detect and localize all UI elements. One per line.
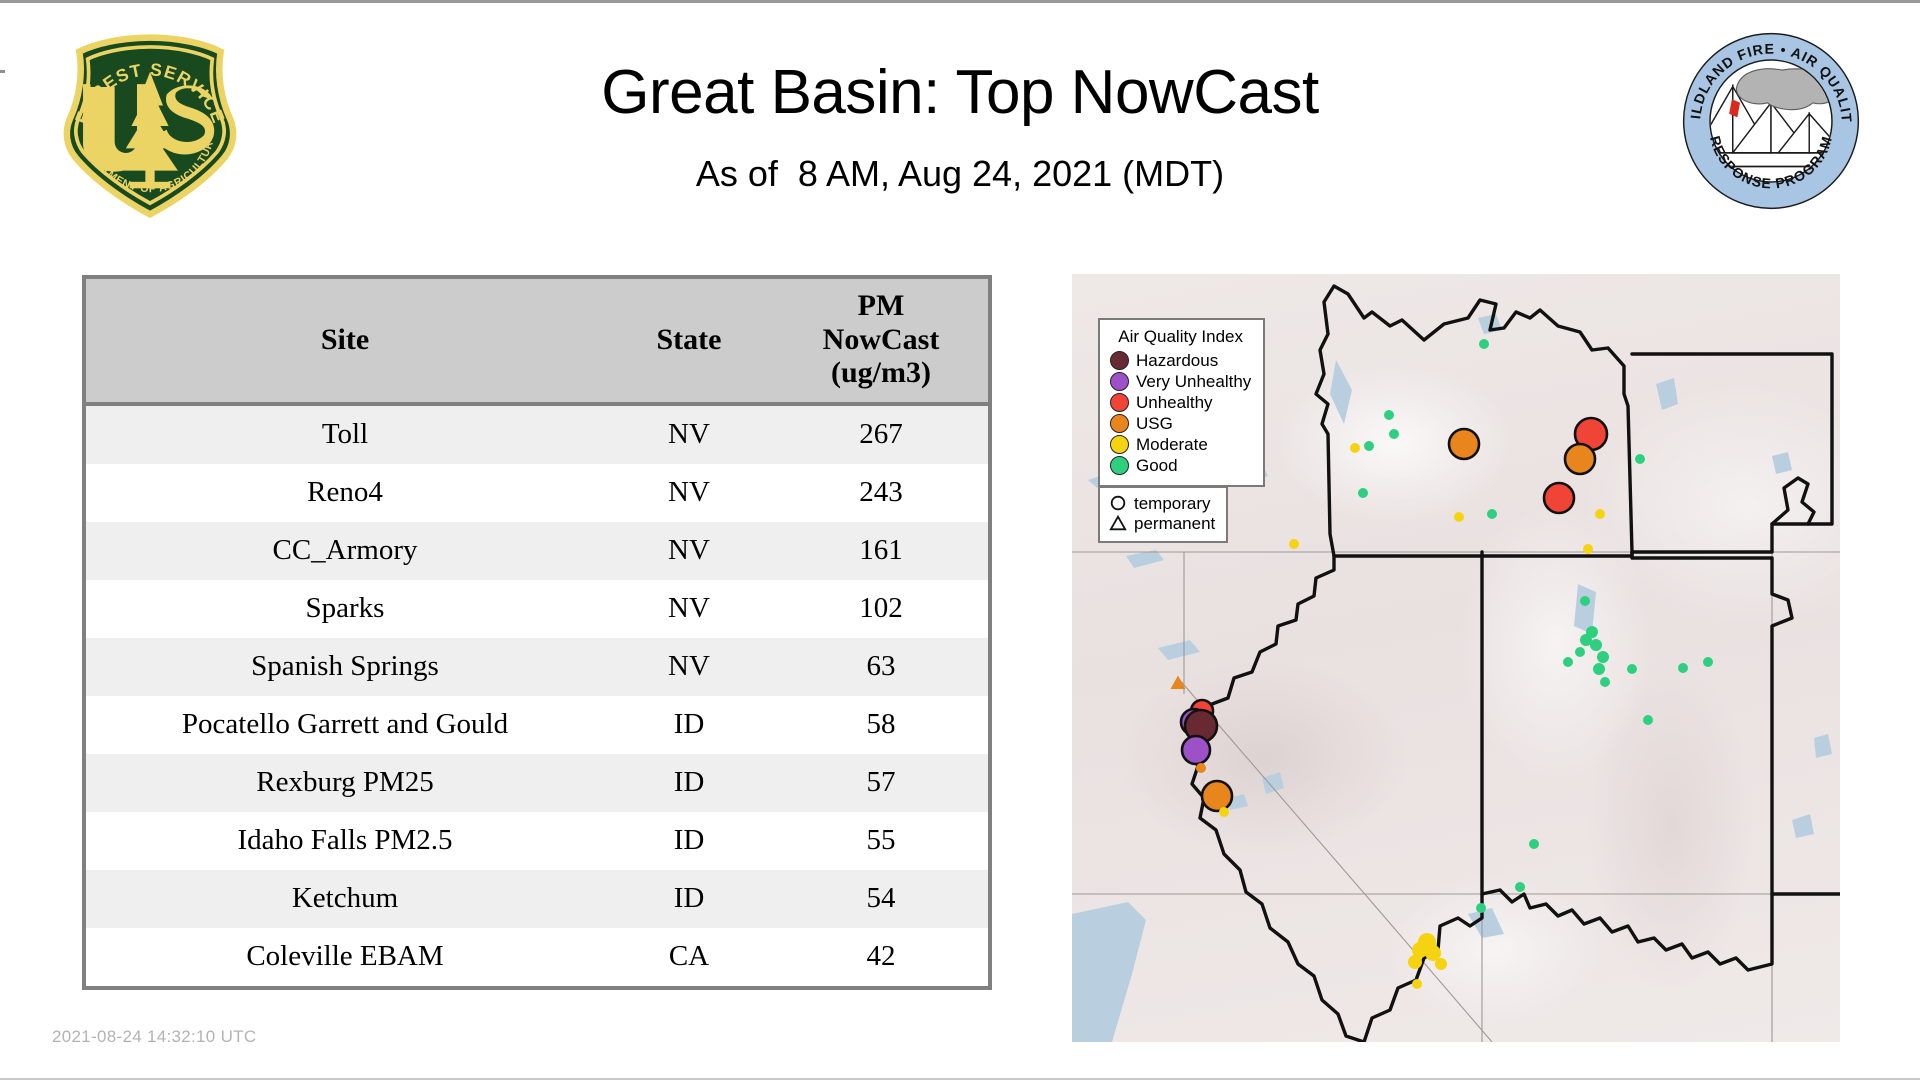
cell-pm-nowcast: 42: [774, 928, 990, 988]
column-header-state: State: [604, 277, 774, 404]
aqi-swatch-icon: [1110, 414, 1129, 433]
monitor-point[interactable]: [1575, 647, 1585, 657]
monitor-point[interactable]: [1580, 596, 1590, 606]
cell-state: ID: [604, 754, 774, 812]
table-row: SparksNV102: [84, 580, 990, 638]
cell-pm-nowcast: 54: [774, 870, 990, 928]
cell-state: ID: [604, 870, 774, 928]
monitor-point[interactable]: [1435, 958, 1447, 970]
monitor-point[interactable]: [1595, 509, 1605, 519]
cell-pm-nowcast: 55: [774, 812, 990, 870]
aqi-legend-label: Hazardous: [1136, 352, 1218, 369]
cell-pm-nowcast: 57: [774, 754, 990, 812]
cell-pm-nowcast: 267: [774, 404, 990, 464]
monitor-point[interactable]: [1583, 544, 1593, 554]
monitor-point[interactable]: [1703, 657, 1713, 667]
table-body: TollNV267Reno4NV243CC_ArmoryNV161SparksN…: [84, 404, 990, 988]
cell-state: NV: [604, 464, 774, 522]
aqi-legend-title: Air Quality Index: [1110, 327, 1251, 347]
cell-state: CA: [604, 928, 774, 988]
title-block: Great Basin: Top NowCast As of 8 AM, Aug…: [300, 60, 1620, 195]
monitor-point[interactable]: [1597, 651, 1609, 663]
table-row: Rexburg PM25ID57: [84, 754, 990, 812]
cell-site: Idaho Falls PM2.5: [84, 812, 604, 870]
aqi-legend-row: Moderate: [1110, 435, 1251, 454]
monitor-point[interactable]: [1593, 663, 1605, 675]
triangle-outline-icon: [1109, 514, 1127, 532]
monitor-point[interactable]: [1529, 839, 1539, 849]
column-header-pm-nowcast: PM NowCast (ug/m3): [774, 277, 990, 404]
column-header-site: Site: [84, 277, 604, 404]
aqi-legend-label: Unhealthy: [1136, 394, 1213, 411]
aqi-legend: Air Quality Index HazardousVery Unhealth…: [1098, 318, 1265, 487]
table-row: Coleville EBAMCA42: [84, 928, 990, 988]
cell-pm-nowcast: 63: [774, 638, 990, 696]
cell-state: NV: [604, 580, 774, 638]
monitor-point[interactable]: [1196, 763, 1206, 773]
aqi-legend-row: Hazardous: [1110, 351, 1251, 370]
monitor-point[interactable]: [1449, 429, 1479, 459]
us-forest-service-logo: FOREST SERVICE DEPARTMENT OF AGRICULTURE: [57, 33, 243, 219]
monitor-point[interactable]: [1487, 509, 1497, 519]
aqi-legend-label: USG: [1136, 415, 1173, 432]
table-row: Idaho Falls PM2.5ID55: [84, 812, 990, 870]
monitor-point[interactable]: [1544, 483, 1574, 513]
cell-state: ID: [604, 696, 774, 754]
symbol-legend-label-permanent: permanent: [1134, 515, 1215, 532]
monitor-point[interactable]: [1476, 903, 1486, 913]
page-subtitle: As of 8 AM, Aug 24, 2021 (MDT): [300, 153, 1620, 195]
aqi-swatch-icon: [1110, 372, 1129, 391]
column-header-pm-line2: NowCast: [778, 323, 984, 357]
cell-state: ID: [604, 812, 774, 870]
symbol-legend-row-permanent: permanent: [1109, 514, 1215, 532]
aqi-swatch-icon: [1110, 435, 1129, 454]
cell-state: NV: [604, 522, 774, 580]
cell-site: Ketchum: [84, 870, 604, 928]
column-header-pm-line1: PM: [778, 289, 984, 323]
aqi-legend-row: Very Unhealthy: [1110, 372, 1251, 391]
monitor-point[interactable]: [1182, 736, 1210, 764]
cell-site: Pocatello Garrett and Gould: [84, 696, 604, 754]
cell-pm-nowcast: 243: [774, 464, 990, 522]
monitor-point[interactable]: [1678, 663, 1688, 673]
monitor-point[interactable]: [1643, 715, 1653, 725]
monitor-point[interactable]: [1515, 882, 1525, 892]
wfaqrp-logo: WILDLAND FIRE • AIR QUALITY RESPONSE PRO…: [1680, 30, 1862, 212]
table-row: Reno4NV243: [84, 464, 990, 522]
monitor-point[interactable]: [1219, 807, 1229, 817]
cell-site: CC_Armory: [84, 522, 604, 580]
cell-pm-nowcast: 161: [774, 522, 990, 580]
table-header: Site State PM NowCast (ug/m3): [84, 277, 990, 404]
air-quality-map[interactable]: Air Quality Index HazardousVery Unhealth…: [1072, 274, 1840, 1042]
cell-pm-nowcast: 102: [774, 580, 990, 638]
monitor-point[interactable]: [1627, 664, 1637, 674]
cell-state: NV: [604, 638, 774, 696]
monitor-point[interactable]: [1479, 339, 1489, 349]
cell-site: Sparks: [84, 580, 604, 638]
cell-site: Reno4: [84, 464, 604, 522]
aqi-legend-items: HazardousVery UnhealthyUnhealthyUSGModer…: [1110, 351, 1251, 475]
monitor-point[interactable]: [1454, 512, 1464, 522]
left-edge-tick: [0, 70, 5, 73]
table-row: CC_ArmoryNV161: [84, 522, 990, 580]
map-county-lines: [1072, 552, 1840, 1042]
cell-site: Spanish Springs: [84, 638, 604, 696]
monitor-point[interactable]: [1563, 657, 1573, 667]
cell-pm-nowcast: 58: [774, 696, 990, 754]
nowcast-table: Site State PM NowCast (ug/m3) TollNV267R…: [82, 275, 992, 990]
cell-site: Rexburg PM25: [84, 754, 604, 812]
monitor-point[interactable]: [1350, 443, 1360, 453]
table-row: Spanish SpringsNV63: [84, 638, 990, 696]
circle-outline-icon: [1109, 494, 1127, 512]
table-header-row: Site State PM NowCast (ug/m3): [84, 277, 990, 404]
monitor-point[interactable]: [1171, 676, 1186, 690]
generation-timestamp: 2021-08-24 14:32:10 UTC: [52, 1027, 256, 1047]
monitor-point[interactable]: [1412, 979, 1422, 989]
aqi-legend-label: Good: [1136, 457, 1178, 474]
monitor-point[interactable]: [1565, 444, 1595, 474]
nowcast-table-container: Site State PM NowCast (ug/m3) TollNV267R…: [82, 275, 988, 990]
monitor-point[interactable]: [1635, 454, 1645, 464]
monitor-point[interactable]: [1408, 955, 1422, 969]
cell-site: Coleville EBAM: [84, 928, 604, 988]
aqi-legend-row: USG: [1110, 414, 1251, 433]
monitor-point[interactable]: [1364, 441, 1374, 451]
aqi-swatch-icon: [1110, 351, 1129, 370]
table-row: KetchumID54: [84, 870, 990, 928]
aqi-swatch-icon: [1110, 393, 1129, 412]
aqi-swatch-icon: [1110, 456, 1129, 475]
monitor-point[interactable]: [1358, 488, 1368, 498]
monitor-point[interactable]: [1384, 410, 1394, 420]
monitor-point[interactable]: [1202, 781, 1232, 811]
aqi-legend-label: Very Unhealthy: [1136, 373, 1251, 390]
column-header-pm-line3: (ug/m3): [778, 356, 984, 390]
cell-site: Toll: [84, 404, 604, 464]
aqi-legend-row: Good: [1110, 456, 1251, 475]
symbol-legend-row-temporary: temporary: [1109, 494, 1215, 512]
cell-state: NV: [604, 404, 774, 464]
symbol-legend-label-temporary: temporary: [1134, 495, 1211, 512]
symbol-legend: temporary permanent: [1098, 486, 1228, 543]
table-row: Pocatello Garrett and GouldID58: [84, 696, 990, 754]
monitor-point[interactable]: [1389, 429, 1399, 439]
monitor-point[interactable]: [1590, 639, 1602, 651]
monitor-point[interactable]: [1289, 539, 1299, 549]
page-title: Great Basin: Top NowCast: [300, 60, 1620, 127]
table-row: TollNV267: [84, 404, 990, 464]
aqi-legend-row: Unhealthy: [1110, 393, 1251, 412]
monitor-point[interactable]: [1600, 677, 1610, 687]
aqi-legend-label: Moderate: [1136, 436, 1208, 453]
map-state-boundaries: [1188, 286, 1840, 1042]
